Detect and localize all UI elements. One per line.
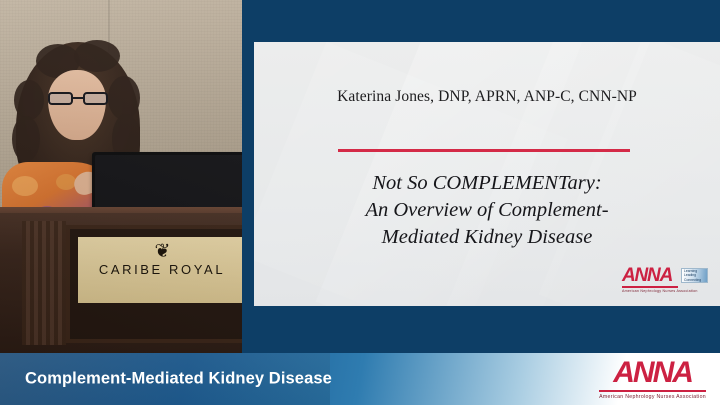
slide-title-line-1: Not So COMPLEMENTary: <box>280 170 694 197</box>
slide-title-line-3: Mediated Kidney Disease <box>280 224 694 251</box>
anna-logo-badge: Learning Leading Connecting <box>681 268 708 283</box>
presentation-slide[interactable]: Katerina Jones, DNP, APRN, ANP-C, CNN-NP… <box>254 42 720 306</box>
title-divider-rule <box>338 149 630 152</box>
badge-line-connecting: Connecting <box>684 278 707 282</box>
speaker-video[interactable]: ❦ CARIBE ROYAL <box>0 0 242 353</box>
anna-logo-tagline: American Nephrology Nurses Association <box>622 289 708 293</box>
slide-title-line-2: An Overview of Complement- <box>280 197 694 224</box>
anna-logo-rule <box>622 286 678 288</box>
bottom-banner: Complement-Mediated Kidney Disease ANNA … <box>0 353 720 405</box>
slide-title: Not So COMPLEMENTary: An Overview of Com… <box>280 170 694 251</box>
banner-anna-logo: ANNA American Nephrology Nurses Associat… <box>599 358 706 400</box>
presenter-credentials: Katerina Jones, DNP, APRN, ANP-C, CNN-NP <box>254 88 720 106</box>
slide-anna-logo: ANNA American Nephrology Nurses Associat… <box>622 266 708 298</box>
banner-session-title: Complement-Mediated Kidney Disease <box>25 370 332 389</box>
anna-wordmark: ANNA <box>599 358 706 388</box>
anna-logo-rule <box>599 390 706 392</box>
video-shading <box>0 0 242 353</box>
presentation-stage: ❦ CARIBE ROYAL Katerina Jones, DNP, APRN… <box>0 0 720 405</box>
anna-logo-tagline: American Nephrology Nurses Association <box>599 394 706 400</box>
